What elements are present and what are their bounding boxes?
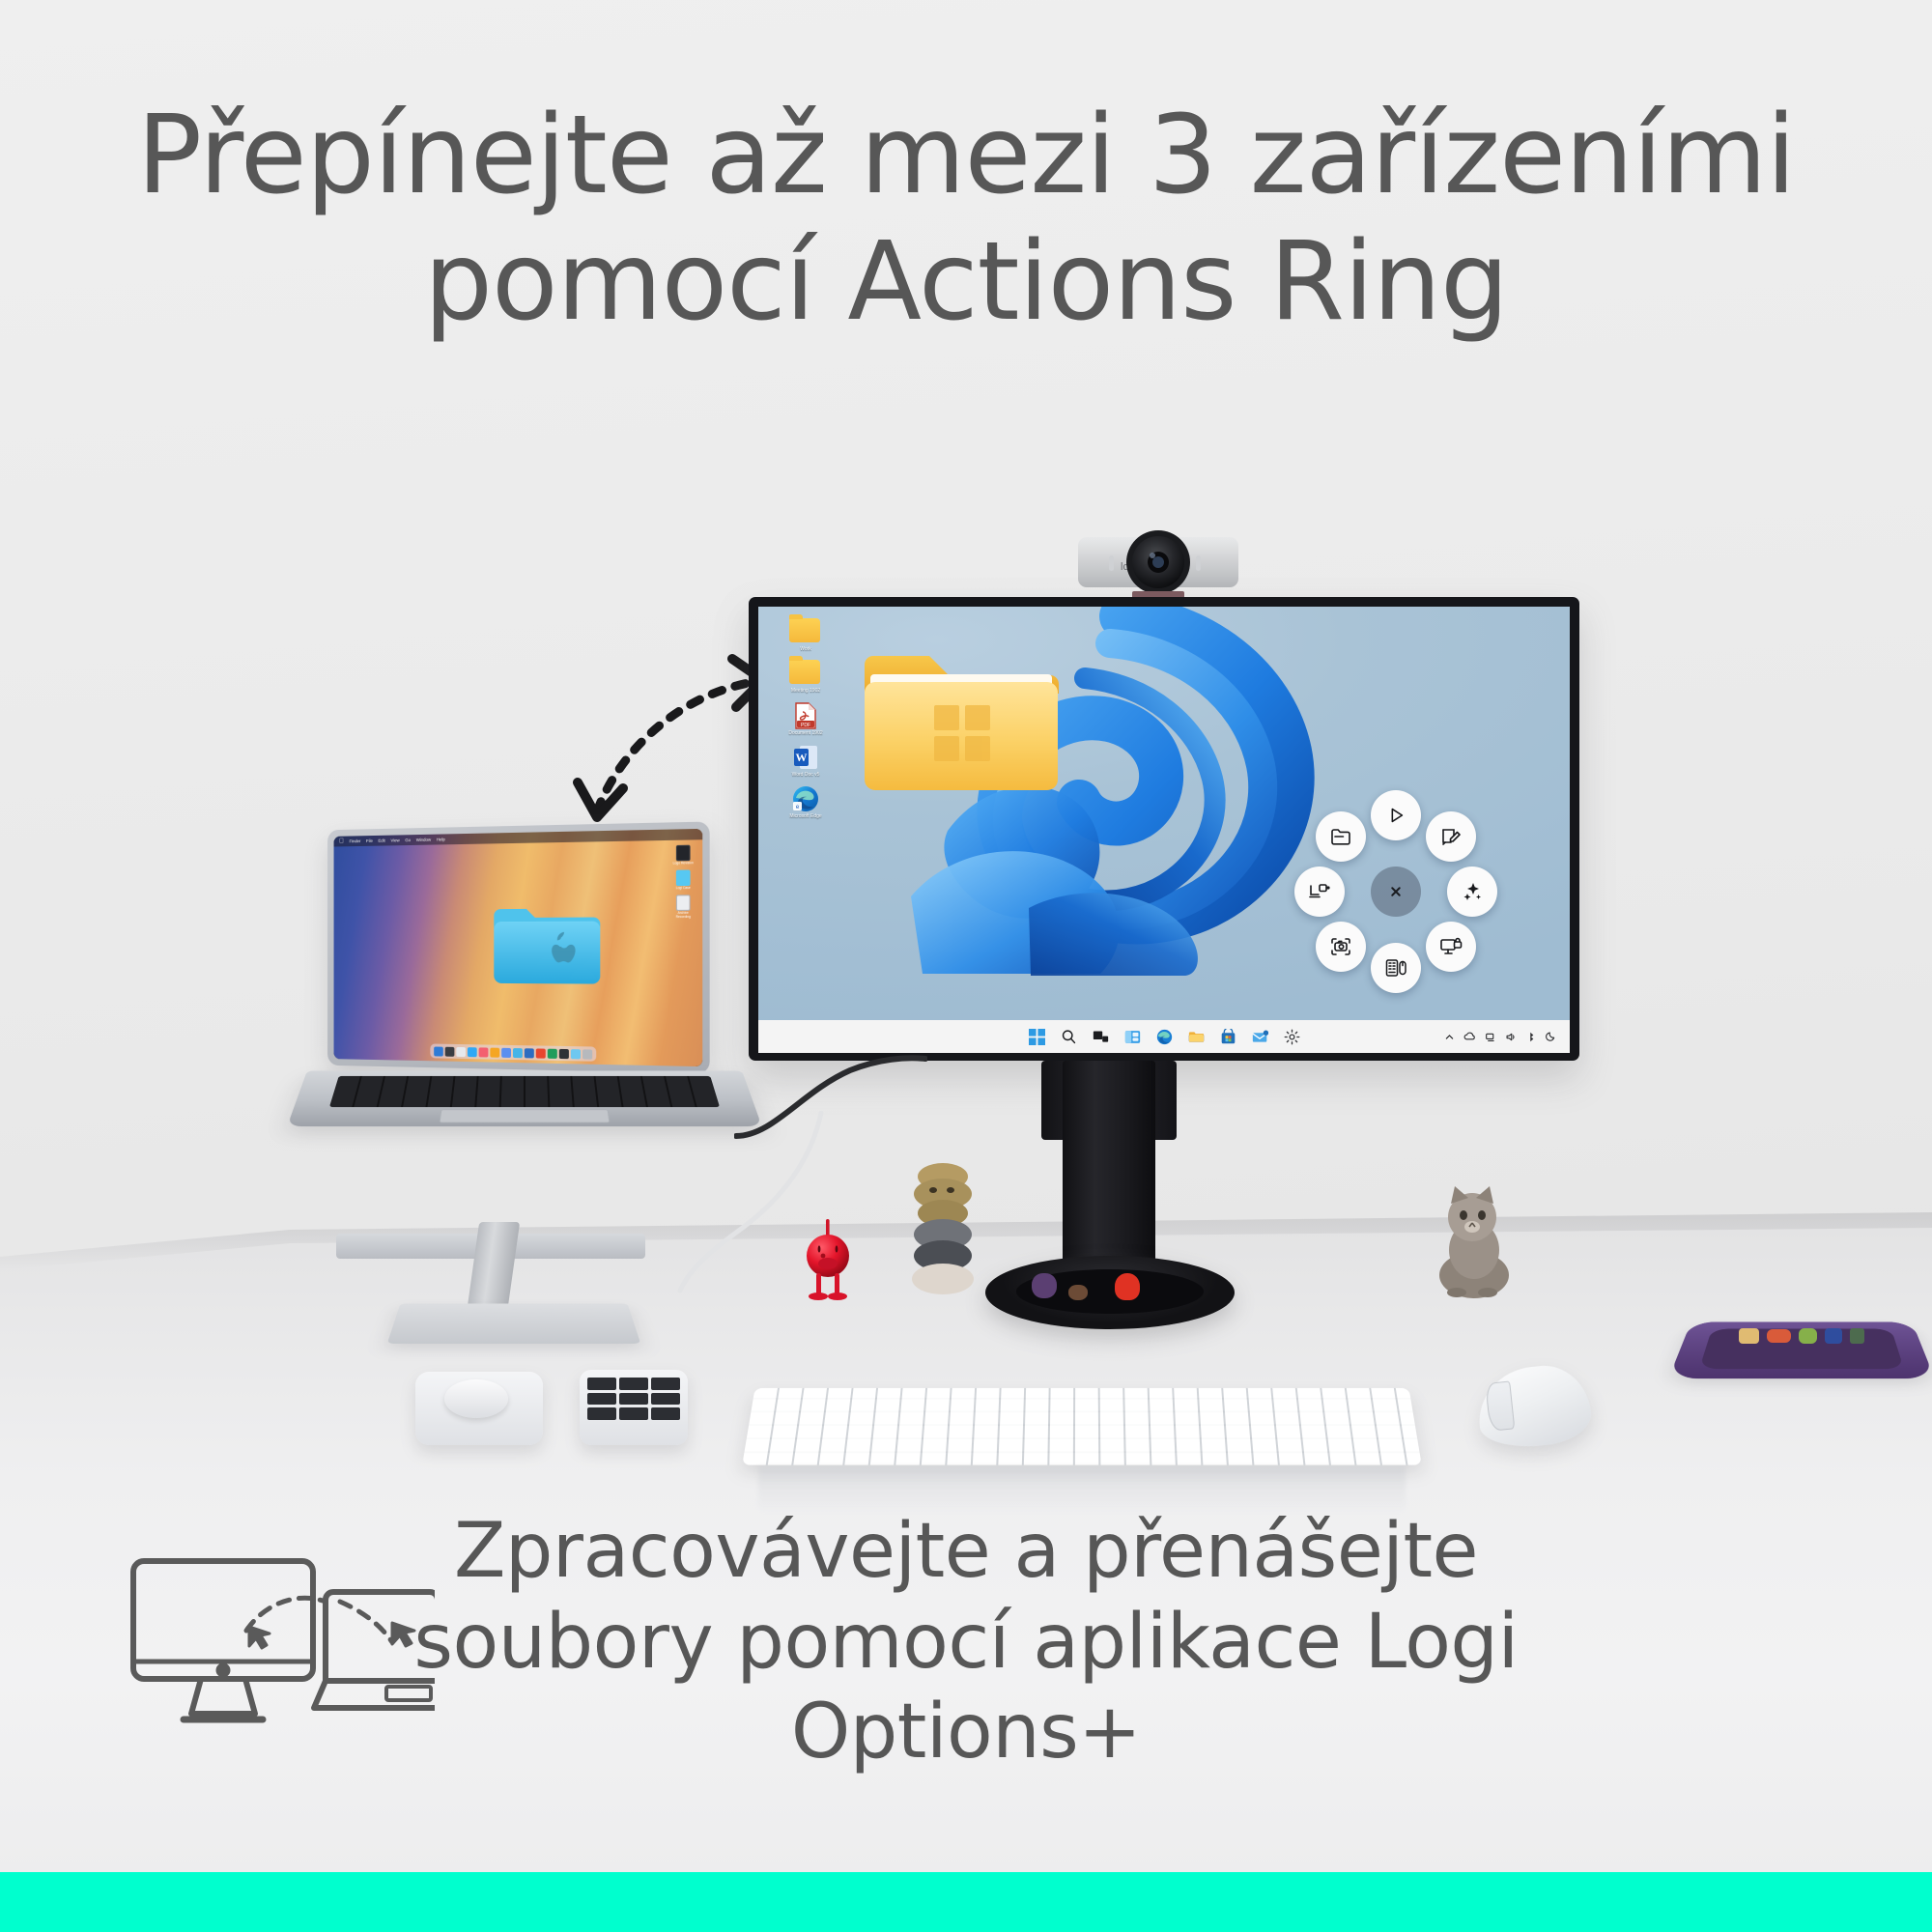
menubar-item[interactable]: Finder (350, 838, 361, 843)
mx-keys-keyboard[interactable] (742, 1388, 1421, 1465)
dock-item[interactable] (559, 1048, 569, 1058)
screenshot-capture-icon (1329, 935, 1352, 958)
mini-toy-figurine (1032, 1273, 1057, 1298)
windows-folder-icon[interactable] (859, 645, 1064, 800)
store-icon (1220, 1029, 1236, 1045)
file-explorer-button[interactable] (1186, 1027, 1206, 1046)
console-key[interactable] (587, 1407, 616, 1420)
pdf-document-icon: PDF (789, 702, 822, 729)
switch-device-action[interactable] (1294, 867, 1345, 917)
monitor-screen: Work Meeting 1902 PDF (758, 607, 1570, 1020)
close-x-icon (1387, 883, 1405, 900)
macbook-laptop:  Finder File Edit View Go Window Help L… (319, 826, 734, 1135)
search-button[interactable] (1059, 1027, 1078, 1046)
folder-icon (1188, 1029, 1205, 1045)
ai-enhance-action[interactable] (1447, 867, 1497, 917)
monitor-lock-icon (1439, 935, 1463, 958)
keyboard-mouse-icon (1384, 956, 1407, 980)
dock-item[interactable] (490, 1047, 499, 1057)
mac-icon-label: Logi Case (670, 887, 696, 891)
bluetooth-icon[interactable] (1525, 1032, 1537, 1042)
media-play-action[interactable] (1371, 790, 1421, 840)
dock-item[interactable] (571, 1049, 581, 1059)
network-icon[interactable] (1485, 1032, 1496, 1042)
moon-icon[interactable] (1546, 1031, 1556, 1042)
console-key[interactable] (651, 1407, 680, 1420)
mail-icon (1252, 1029, 1268, 1045)
dock-item[interactable] (548, 1048, 557, 1058)
mini-toy-figurine (1068, 1285, 1088, 1300)
mini-toy-figurine (1115, 1273, 1140, 1300)
console-key[interactable] (651, 1393, 680, 1406)
tray-mini-objects (1739, 1320, 1864, 1352)
mx-creative-console-keypad[interactable] (580, 1370, 688, 1445)
settings-button[interactable] (1282, 1027, 1301, 1046)
desktop-icon-meeting[interactable]: Meeting 1902 (774, 660, 838, 694)
keyboard-mouse-action[interactable] (1371, 943, 1421, 993)
console-key[interactable] (619, 1393, 648, 1406)
apple-menu-icon[interactable]:  (339, 838, 344, 845)
laptop-trackpad[interactable] (440, 1110, 611, 1123)
menubar-item[interactable]: Edit (379, 838, 385, 843)
monitor-neck (1063, 1061, 1155, 1289)
sparkles-icon (1461, 880, 1484, 903)
console-key[interactable] (619, 1378, 648, 1390)
mail-button[interactable] (1250, 1027, 1269, 1046)
headline-line-2: pomocí Actions Ring (0, 219, 1932, 346)
dock-item[interactable] (501, 1047, 511, 1057)
device-switch-icon (1308, 880, 1331, 903)
desktop-icon-work[interactable]: Work (774, 618, 838, 652)
macos-desktop-icons: Logo Revision Logi Case Archive Recordin… (670, 845, 696, 924)
chevron-up-icon[interactable] (1444, 1032, 1455, 1042)
laptop-lid:  Finder File Edit View Go Window Help L… (327, 821, 710, 1073)
desktop-icon-label: Word Doc v5 (774, 773, 838, 778)
laptop-keyboard[interactable] (329, 1076, 720, 1107)
svg-text:W: W (796, 751, 808, 764)
dock-item[interactable] (445, 1046, 455, 1056)
desktop-icon-word[interactable]: W Word Doc v5 (774, 744, 838, 778)
windows-logo-icon (1029, 1029, 1045, 1045)
pdf-document-icon (676, 845, 691, 862)
search-icon (1061, 1029, 1077, 1045)
annotate-screen-action[interactable] (1426, 811, 1476, 862)
cursor-arrow (392, 1623, 414, 1646)
dock-item[interactable] (513, 1048, 523, 1058)
mac-desktop-icon-disk[interactable]: Archive Recording (670, 895, 696, 919)
dock-item[interactable] (479, 1047, 489, 1057)
console-key[interactable] (619, 1407, 648, 1420)
desktop-icon-label: Microsoft Edge (774, 814, 838, 819)
stacked-stone-figurine (908, 1159, 978, 1302)
folder-icon (789, 660, 822, 687)
windows-taskbar (758, 1020, 1570, 1053)
dock-item[interactable] (456, 1046, 466, 1056)
console-key[interactable] (587, 1378, 616, 1390)
actions-ring-overlay[interactable] (1304, 800, 1488, 983)
svg-text:PDF: PDF (801, 723, 810, 728)
edge-button[interactable] (1154, 1027, 1174, 1046)
promo-scene: Přepínejte až mezi 3 zařízeními pomocí A… (0, 0, 1932, 1932)
close-ring-button[interactable] (1371, 867, 1421, 917)
brand-color-bar (0, 1872, 1932, 1932)
desktop-icon-label: Work (774, 647, 838, 652)
gear-icon (1284, 1029, 1300, 1045)
widgets-button[interactable] (1122, 1027, 1142, 1046)
laptop-screen:  Finder File Edit View Go Window Help L… (334, 829, 703, 1066)
dashed-curve (340, 1602, 392, 1642)
screenshot-action[interactable] (1316, 922, 1366, 972)
console-key[interactable] (651, 1378, 680, 1390)
mac-desktop-icon-image[interactable]: Logi Case (670, 870, 696, 891)
laptop-outline (326, 1592, 435, 1681)
play-icon (1385, 805, 1406, 826)
widgets-icon (1124, 1029, 1141, 1045)
windows-desktop-icons: Work Meeting 1902 PDF (774, 618, 838, 827)
page-headline: Přepínejte až mezi 3 zařízeními pomocí A… (0, 93, 1932, 346)
console-key-grid (587, 1378, 680, 1420)
lock-screen-action[interactable] (1426, 922, 1476, 972)
disk-image-icon (676, 895, 691, 912)
task-view-button[interactable] (1091, 1027, 1110, 1046)
ceramic-cat-figurine (1428, 1179, 1520, 1302)
dock-item[interactable] (434, 1046, 443, 1056)
flow-devices-icon (126, 1555, 435, 1739)
dock-item[interactable] (468, 1047, 477, 1057)
folder-open-icon (1329, 825, 1352, 848)
desktop-icon-edge[interactable]: e Microsoft Edge (774, 785, 838, 819)
start-button[interactable] (1027, 1027, 1046, 1046)
dock-item[interactable] (525, 1048, 534, 1058)
desktop-icon-label: Meeting 1902 (774, 689, 838, 694)
cloud-icon[interactable] (1463, 1032, 1476, 1042)
speaker-icon[interactable] (1505, 1032, 1517, 1042)
word-document-icon: W (789, 744, 822, 771)
mx-creative-console-dialpad[interactable] (415, 1372, 543, 1445)
system-tray (1444, 1020, 1556, 1053)
folder-icon (789, 618, 822, 645)
task-view-icon (1093, 1029, 1109, 1045)
menubar-item[interactable]: Help (437, 837, 445, 841)
menubar-item[interactable]: File (366, 838, 373, 843)
menubar-item[interactable]: Go (405, 838, 411, 842)
external-monitor: Work Meeting 1902 PDF (749, 597, 1579, 1061)
cursor-arrow (249, 1627, 270, 1648)
headline-line-1: Přepínejte až mezi 3 zařízeními (0, 93, 1932, 219)
edge-browser-icon: e (789, 785, 822, 812)
microsoft-store-button[interactable] (1218, 1027, 1237, 1046)
image-file-icon (676, 870, 691, 887)
open-files-action[interactable] (1316, 811, 1366, 862)
mac-icon-label: Logo Revision (670, 862, 696, 866)
mac-icon-label: Archive Recording (670, 912, 696, 919)
desktop-icon-document[interactable]: PDF Document 1902 (774, 702, 838, 736)
console-key[interactable] (587, 1393, 616, 1406)
dock-item[interactable] (582, 1049, 592, 1059)
laptop-stand-base (387, 1303, 640, 1343)
menubar-item[interactable]: View (390, 838, 399, 842)
mac-desktop-icon-pdf[interactable]: Logo Revision (670, 845, 696, 866)
apple-folder-icon[interactable] (490, 901, 604, 990)
dock-item[interactable] (536, 1048, 546, 1058)
edge-browser-icon (1156, 1029, 1173, 1045)
edit-document-icon (1439, 825, 1463, 848)
logitech-mx-brio-webcam: logi (1070, 524, 1246, 609)
red-hoptimist-figurine (800, 1219, 856, 1302)
menubar-item[interactable]: Window (416, 838, 431, 842)
monitor-chin (758, 1020, 1570, 1053)
keyboard-reflection (758, 1466, 1406, 1513)
desktop-icon-label: Document 1902 (774, 731, 838, 736)
